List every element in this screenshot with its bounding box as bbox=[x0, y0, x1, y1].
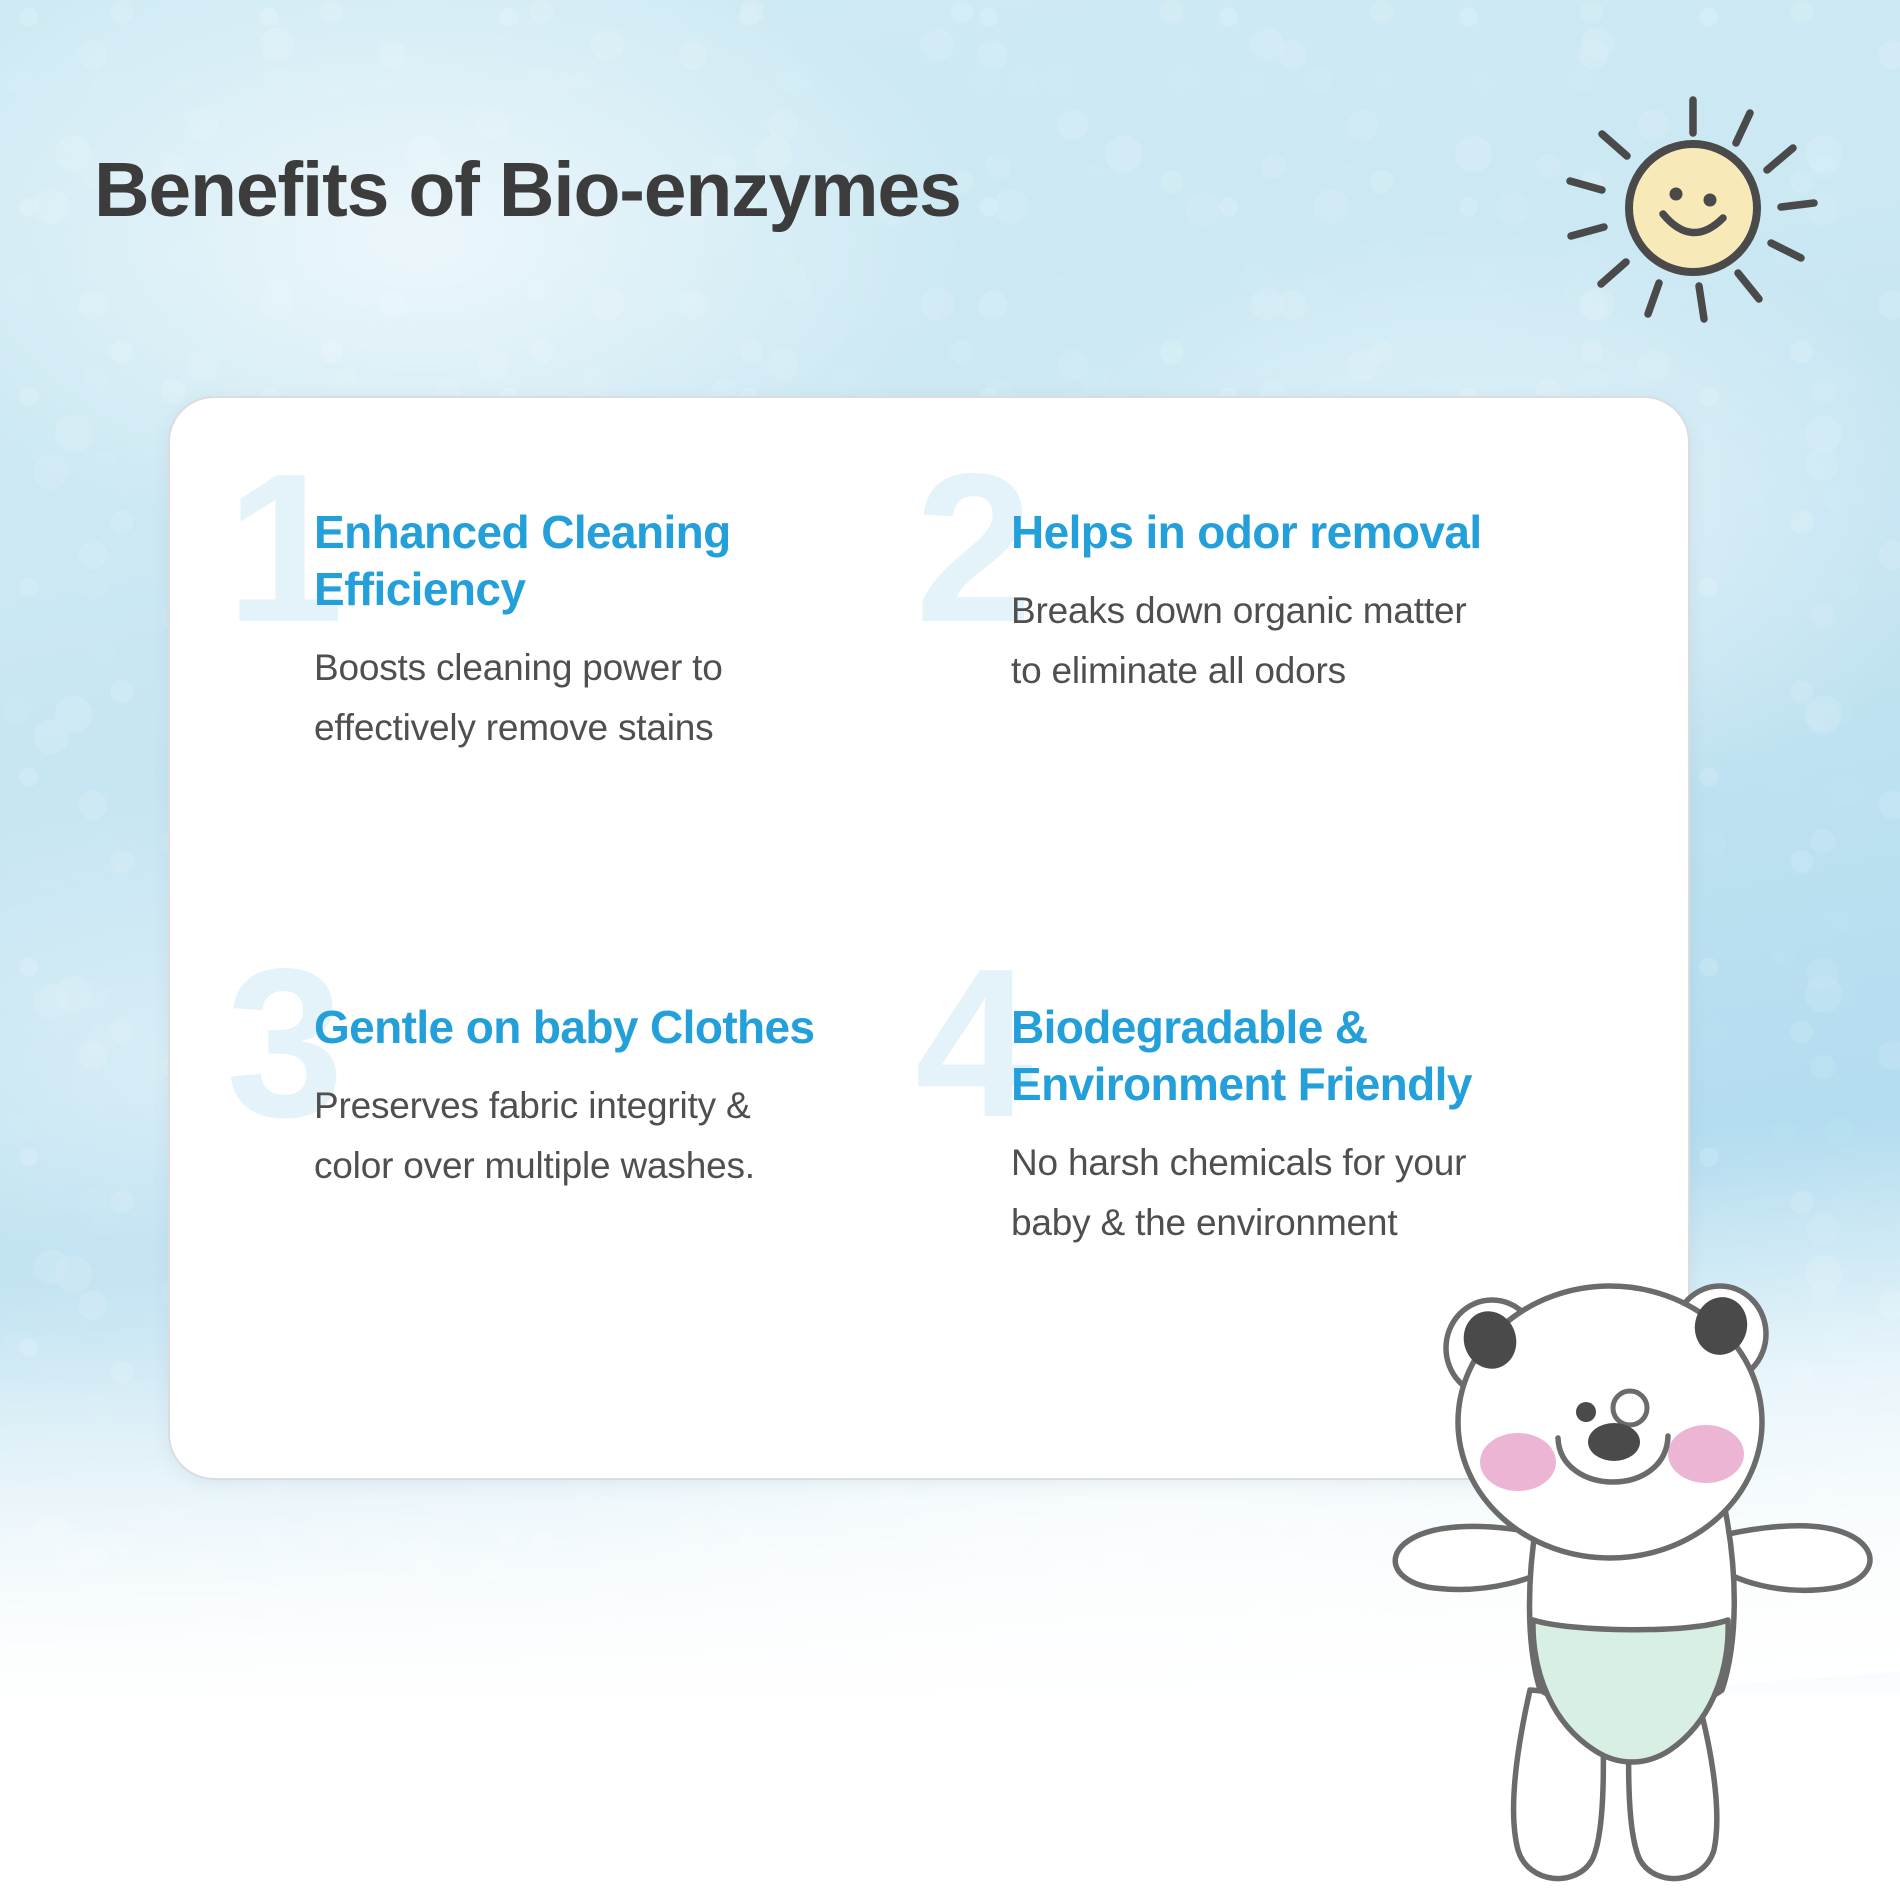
benefit-body-1: Enhanced Cleaning Efficiency Boosts clea… bbox=[314, 448, 933, 758]
sun-icon bbox=[1558, 86, 1828, 326]
benefit-text-1: Boosts cleaning power to effectively rem… bbox=[314, 638, 784, 758]
poster-root: Benefits of Bio-enzymes bbox=[0, 0, 1900, 1900]
page-title: Benefits of Bio-enzymes bbox=[94, 150, 961, 231]
benefit-title-4: Biodegradable & Environment Friendly bbox=[1011, 999, 1611, 1113]
benefit-body-4: Biodegradable & Environment Friendly No … bbox=[1011, 943, 1634, 1253]
benefit-text-3: Preserves fabric integrity & color over … bbox=[314, 1076, 784, 1196]
benefit-body-2: Helps in odor removal Breaks down organi… bbox=[1011, 448, 1634, 701]
benefit-title-1: Enhanced Cleaning Efficiency bbox=[314, 504, 874, 618]
benefit-item-2: 2 Helps in odor removal Breaks down orga… bbox=[933, 448, 1634, 943]
benefit-text-2: Breaks down organic matter to eliminate … bbox=[1011, 581, 1481, 701]
benefit-body-3: Gentle on baby Clothes Preserves fabric … bbox=[314, 943, 933, 1196]
benefit-title-3: Gentle on baby Clothes bbox=[314, 999, 874, 1056]
bear-mascot-icon bbox=[1390, 1272, 1900, 1900]
benefit-text-4: No harsh chemicals for your baby & the e… bbox=[1011, 1133, 1481, 1253]
benefit-item-3: 3 Gentle on baby Clothes Preserves fabri… bbox=[232, 943, 933, 1438]
benefit-title-2: Helps in odor removal bbox=[1011, 504, 1611, 561]
benefit-item-1: 1 Enhanced Cleaning Efficiency Boosts cl… bbox=[232, 448, 933, 943]
